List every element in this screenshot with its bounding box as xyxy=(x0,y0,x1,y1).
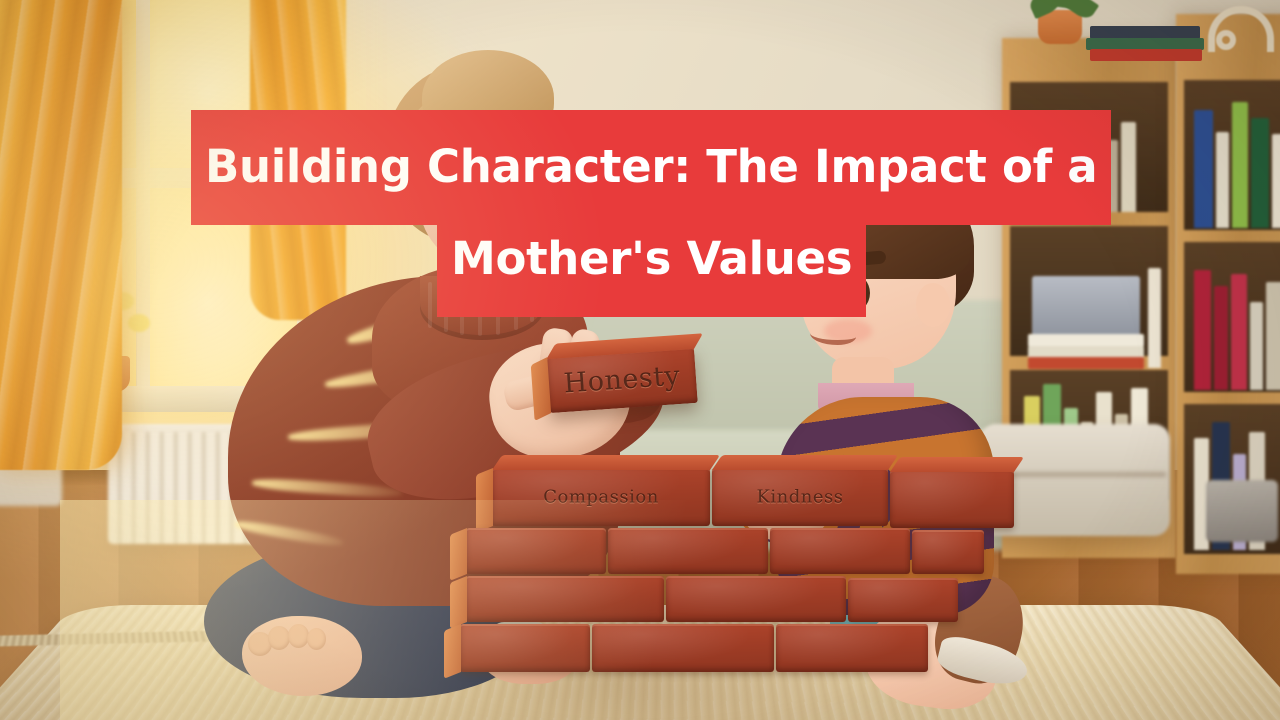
brick-compassion: Compassion xyxy=(492,468,710,526)
brick-row4-b xyxy=(592,624,774,672)
brick-row2-a xyxy=(466,528,606,574)
brick-kindness: Kindness xyxy=(712,468,888,526)
brick-row1-right xyxy=(890,470,1014,528)
brick-row3-a xyxy=(466,576,664,622)
brick-row2-b xyxy=(608,528,768,574)
brick-row4-c xyxy=(776,624,928,672)
brick-row2-c xyxy=(770,528,910,574)
brick-wall: Compassion Kindness xyxy=(0,0,1280,720)
brick-row4-a xyxy=(460,624,590,672)
brick-row2-d xyxy=(912,530,984,574)
brick-row3-c xyxy=(848,578,958,622)
brick-row3-b xyxy=(666,576,846,622)
scene-image: Honesty Compassion Kindness xyxy=(0,0,1280,720)
